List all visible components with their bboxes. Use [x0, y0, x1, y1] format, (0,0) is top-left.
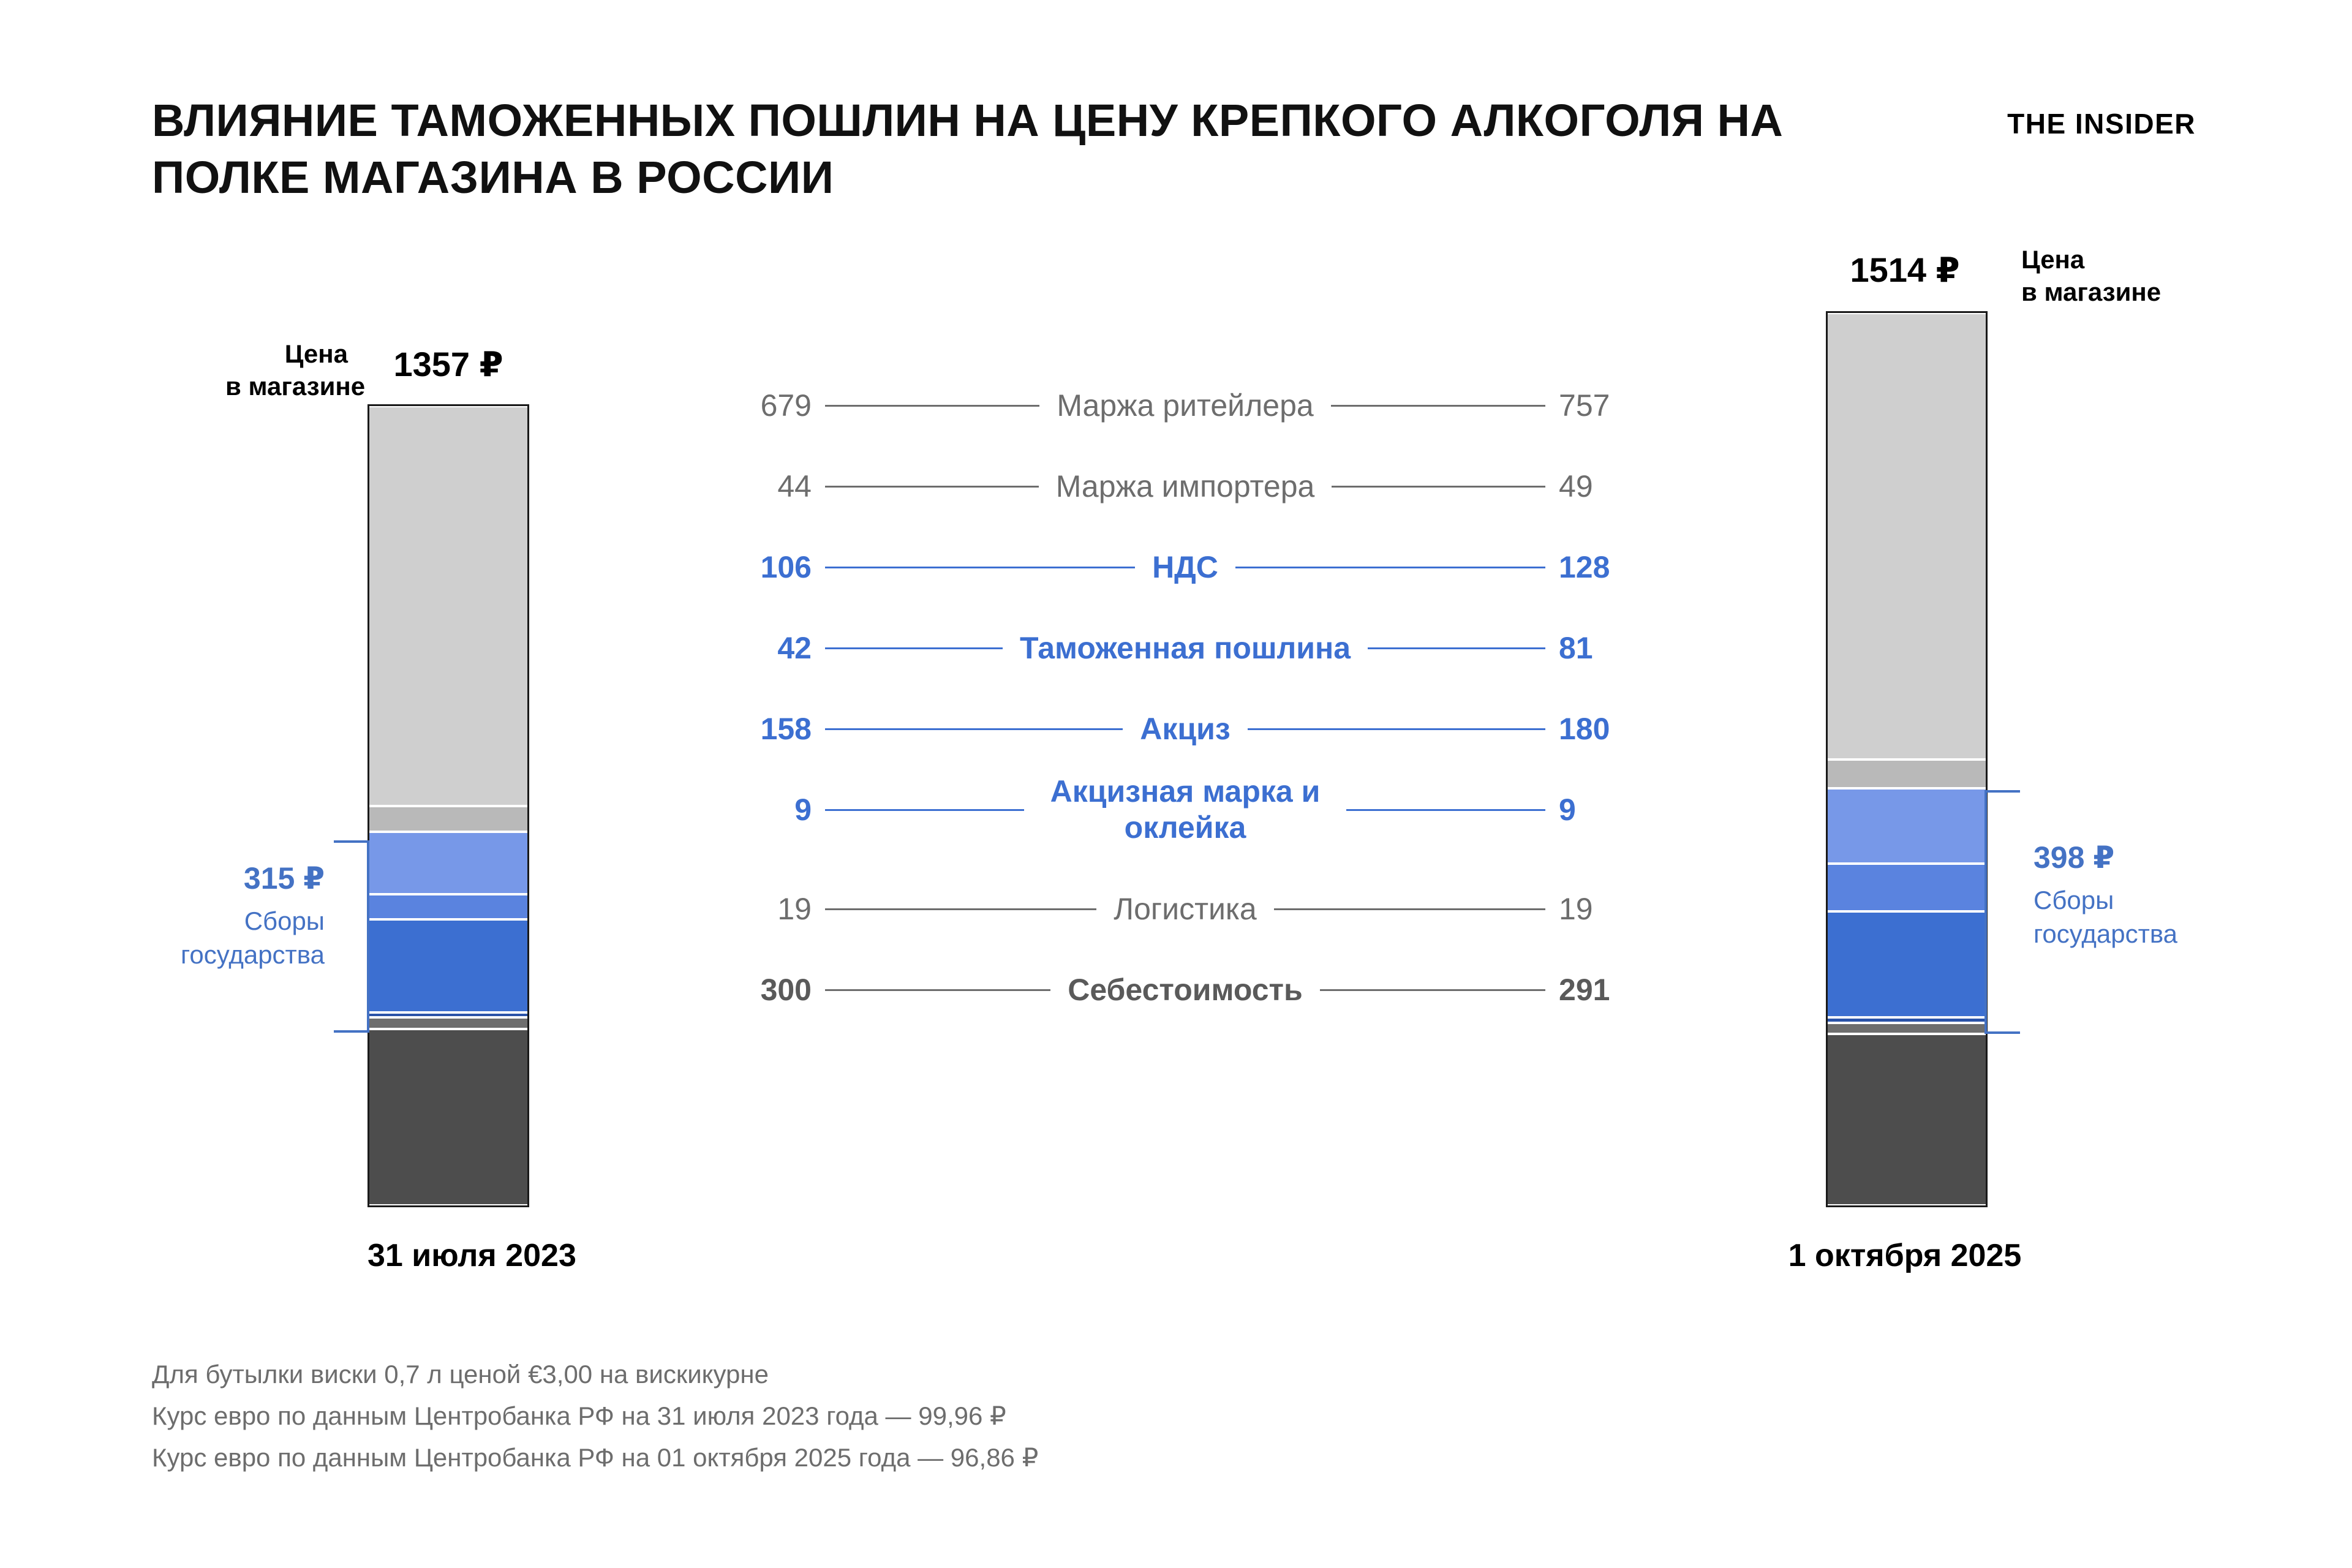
legend-value-2025: 757 — [1559, 388, 1666, 423]
right-shelf-price-label: Цена в магазине — [2021, 244, 2217, 308]
right-shelf-price-label-line2: в магазине — [2021, 277, 2161, 306]
legend-value-2025: 180 — [1559, 711, 1666, 747]
legend-row: 9Акцизная марка и оклейка9 — [704, 779, 1666, 840]
legend-value-2023: 9 — [704, 792, 812, 827]
legend-connector-line-left — [825, 405, 1039, 407]
legend-connector-line-left — [825, 647, 1003, 649]
bar-2025-segment-2 — [1828, 1017, 1986, 1023]
left-bar-date-label: 31 июля 2023 — [367, 1237, 526, 1274]
right-state-fees-caption-line1: Сборы — [2034, 884, 2315, 918]
brand-logo: THE INSIDER — [2007, 107, 2196, 140]
legend-value-2025: 19 — [1559, 891, 1666, 927]
legend-row: 679Маржа ритейлера757 — [704, 375, 1666, 436]
right-state-fees-text: 398 ₽ Сборы государства — [2034, 838, 2315, 951]
bar-2023-segment-2 — [369, 1012, 527, 1018]
legend-value-2023: 19 — [704, 891, 812, 927]
left-shelf-price-label-line1: Цена — [285, 339, 348, 368]
legend-connector-line-right — [1248, 728, 1545, 730]
bar-2023-segment-0 — [369, 1029, 527, 1206]
legend-value-2023: 106 — [704, 549, 812, 585]
footnotes: Для бутылки виски 0,7 л ценой €3,00 на в… — [152, 1354, 1038, 1479]
bar-2025-segment-1 — [1828, 1023, 1986, 1034]
legend-connector-line-left — [825, 908, 1096, 910]
left-state-fees-bracket — [334, 840, 369, 1033]
legend-connector-line-right — [1332, 486, 1545, 488]
bar-2025-segment-0 — [1828, 1034, 1986, 1205]
legend-item-label: НДС — [1148, 549, 1222, 586]
left-state-fees-caption-line1: Сборы — [73, 905, 325, 938]
legend-item-label: Акцизная марка и оклейка — [1038, 774, 1333, 846]
legend-value-2023: 158 — [704, 711, 812, 747]
legend-connector-line-right — [1274, 908, 1545, 910]
legend-value-2025: 49 — [1559, 469, 1666, 504]
left-shelf-price-label-line2: в магазине — [225, 372, 365, 401]
legend-item-label: Себестоимость — [1064, 972, 1306, 1008]
legend-value-2025: 128 — [1559, 549, 1666, 585]
stacked-bar-2025 — [1826, 311, 1988, 1207]
legend-connector-line-right — [1320, 989, 1545, 991]
legend-value-2025: 81 — [1559, 630, 1666, 666]
right-state-fees-bracket — [1985, 790, 2020, 1034]
legend-value-2023: 42 — [704, 630, 812, 666]
bar-2025-segment-4 — [1828, 864, 1986, 911]
legend-row: 300Себестоимость291 — [704, 959, 1666, 1020]
legend-connector-line-left — [825, 809, 1024, 811]
legend-connector-line-left — [825, 728, 1123, 730]
legend-item-label: Логистика — [1110, 891, 1260, 927]
legend-value-2023: 44 — [704, 469, 812, 504]
legend-connector-line-left — [825, 567, 1135, 568]
legend-item-label: Акциз — [1136, 711, 1234, 747]
right-bar-total-price: 1514 ₽ — [1826, 250, 1984, 290]
left-state-fees-amount: 315 ₽ — [73, 859, 325, 899]
bar-2023-segment-1 — [369, 1017, 527, 1028]
legend-row: 44Маржа импортера49 — [704, 456, 1666, 517]
legend-value-2023: 300 — [704, 972, 812, 1008]
legend-item-label: Маржа импортера — [1052, 469, 1319, 505]
legend-connector-line-right — [1331, 405, 1545, 407]
legend-value-2025: 291 — [1559, 972, 1666, 1008]
bar-2023-segment-3 — [369, 919, 527, 1012]
bar-2025-segment-6 — [1828, 759, 1986, 788]
legend-row: 106НДС128 — [704, 537, 1666, 598]
legend-value-2023: 679 — [704, 388, 812, 423]
bar-2025-segment-5 — [1828, 788, 1986, 864]
legend-row: 158Акциз180 — [704, 698, 1666, 759]
page-title: ВЛИЯНИЕ ТАМОЖЕННЫХ ПОШЛИН НА ЦЕНУ КРЕПКО… — [152, 92, 1904, 206]
right-bar-date-label: 1 октября 2025 — [1752, 1237, 2058, 1274]
bar-2025-segment-7 — [1828, 313, 1986, 759]
legend-row: 19Логистика19 — [704, 878, 1666, 940]
bar-2023-segment-7 — [369, 406, 527, 806]
legend-row: 42Таможенная пошлина81 — [704, 617, 1666, 679]
legend-value-2025: 9 — [1559, 792, 1666, 827]
legend-connector-line-right — [1368, 647, 1545, 649]
bar-2023-segment-5 — [369, 832, 527, 894]
legend-connector-line-left — [825, 486, 1039, 488]
bar-2025-segment-3 — [1828, 911, 1986, 1017]
right-shelf-price-label-line1: Цена — [2021, 245, 2084, 274]
legend-item-label: Маржа ритейлера — [1053, 388, 1317, 424]
legend-connector-line-right — [1346, 809, 1545, 811]
left-state-fees-text: 315 ₽ Сборы государства — [73, 859, 325, 971]
footnote-line-1: Для бутылки виски 0,7 л ценой €3,00 на в… — [152, 1354, 1038, 1395]
right-state-fees-amount: 398 ₽ — [2034, 838, 2315, 878]
right-state-fees-caption-line2: государства — [2034, 918, 2315, 951]
legend-connector-line-left — [825, 989, 1050, 991]
left-shelf-price-label: Цена в магазине — [225, 338, 348, 402]
bar-2023-segment-4 — [369, 894, 527, 919]
stacked-bar-2023 — [367, 404, 529, 1207]
left-bar-total-price: 1357 ₽ — [367, 344, 529, 385]
bar-2023-segment-6 — [369, 806, 527, 832]
legend-item-label: Таможенная пошлина — [1016, 630, 1354, 666]
left-state-fees-caption-line2: государства — [73, 938, 325, 972]
legend-connector-line-right — [1235, 567, 1545, 568]
footnote-line-3: Курс евро по данным Центробанка РФ на 01… — [152, 1437, 1038, 1479]
footnote-line-2: Курс евро по данным Центробанка РФ на 31… — [152, 1395, 1038, 1437]
